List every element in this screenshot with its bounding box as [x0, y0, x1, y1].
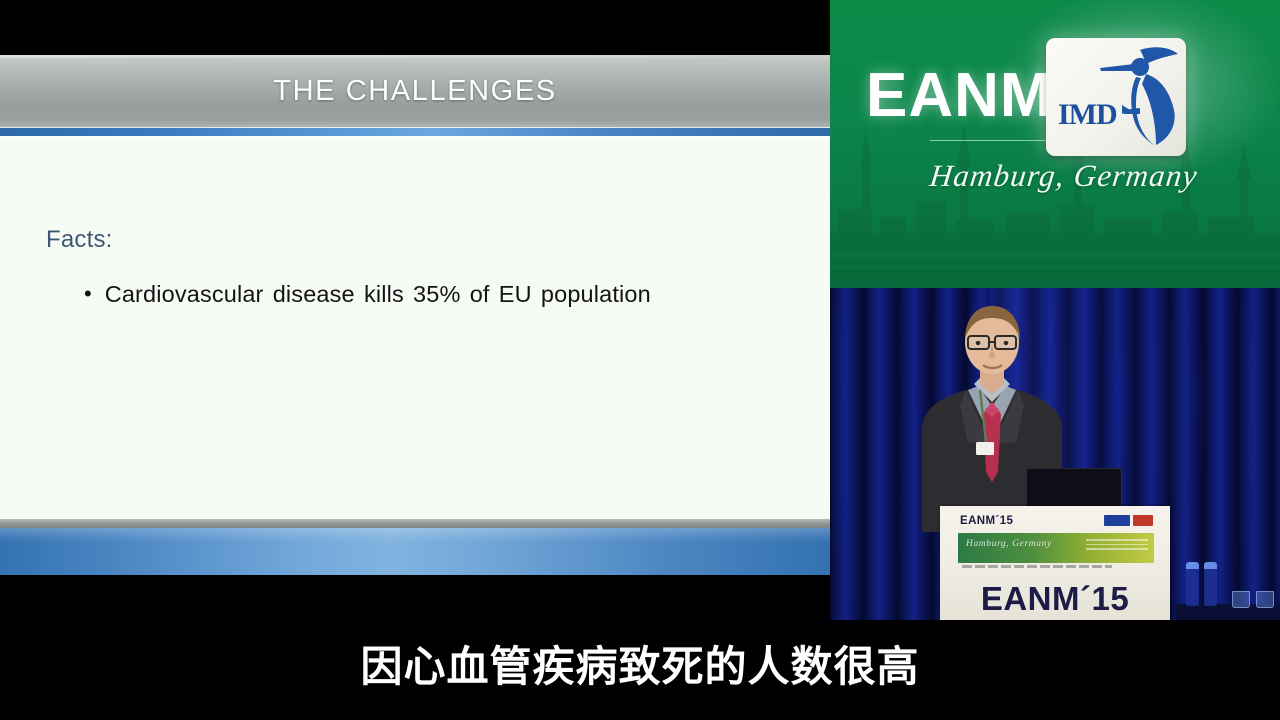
podium-monitor	[1026, 468, 1122, 510]
drinking-glass	[1232, 591, 1250, 608]
podium-event-banner: Hamburg, Germany	[958, 533, 1154, 563]
slide-title-divider	[0, 127, 830, 136]
slide-footer-bar	[0, 528, 830, 575]
lectern: EANM´15 Hamburg, Germany EANM´15	[940, 506, 1170, 620]
eanm-wordmark: EANM	[866, 65, 1053, 127]
slide-footer-divider	[0, 519, 830, 528]
drinking-glass	[1256, 591, 1274, 608]
eanm-conference-banner: EANM	[830, 0, 1280, 288]
video-panel: EANM	[830, 0, 1280, 620]
imd-logo-box: IMD	[1046, 38, 1186, 156]
water-bottle	[1204, 562, 1217, 606]
conference-video-still: EANM´15 Hamburg, Germany EANM´15	[830, 288, 1280, 620]
podium-banner-location: Hamburg, Germany	[966, 539, 1052, 549]
sponsor-logo-red	[1133, 515, 1153, 526]
bullet-point-icon: •	[84, 279, 92, 309]
list-item: • Cardiovascular disease kills 35% of EU…	[84, 279, 784, 309]
bullet-text: Cardiovascular disease kills 35% of EU p…	[105, 279, 651, 309]
slide-title: THE CHALLENGES	[0, 55, 830, 127]
presentation-slide: THE CHALLENGES Facts: • Cardiovascular d…	[0, 55, 830, 575]
kingfisher-bird-icon	[1098, 44, 1184, 148]
subtitle-caption: 因心血管疾病致死的人数很高	[0, 624, 1280, 702]
podium-label-large: EANM´15	[940, 580, 1170, 618]
water-bottle	[1186, 562, 1199, 606]
facts-heading: Facts:	[46, 226, 113, 254]
screen-capture: THE CHALLENGES Facts: • Cardiovascular d…	[0, 0, 1280, 720]
podium-sponsor-logos	[1104, 515, 1156, 526]
podium-banner-textlines	[1086, 539, 1148, 553]
podium-fineprint	[962, 565, 1112, 568]
conference-location: Hamburg, Germany	[928, 158, 1222, 194]
slide-body: Facts: • Cardiovascular disease kills 35…	[0, 136, 830, 519]
bullet-list: • Cardiovascular disease kills 35% of EU…	[84, 279, 784, 309]
imd-logo-text: IMD	[1058, 98, 1117, 132]
podium-label-small: EANM´15	[960, 515, 1013, 527]
sponsor-logo-blue	[1104, 515, 1130, 526]
